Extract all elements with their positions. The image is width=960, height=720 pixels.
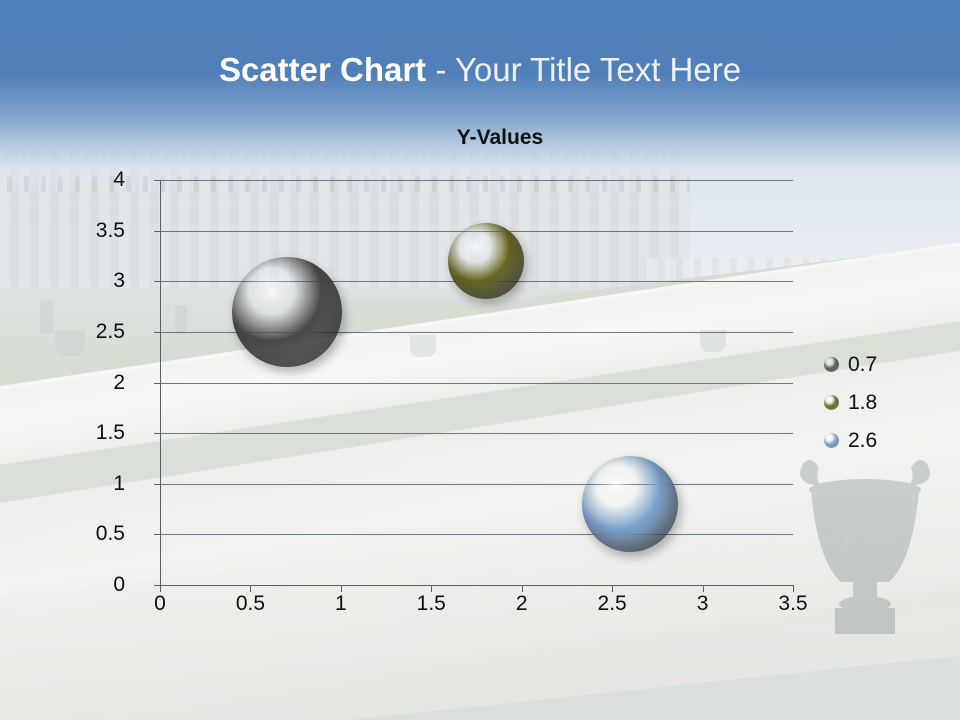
y-tick-label: 2 [65,371,125,395]
x-tick-mark [703,585,704,592]
x-tick-label: 2 [487,592,557,616]
y-tick-label: 2.5 [65,320,125,344]
x-tick-label: 0 [125,592,195,616]
y-tick-mark [154,332,160,333]
gridline [160,383,793,384]
slide-canvas: Scatter Chart - Your Title Text Here Y-V… [0,0,960,720]
x-tick-mark [250,585,251,592]
legend-item-label: 0.7 [848,348,877,382]
x-tick-mark [522,585,523,592]
legend-marker-icon [824,357,839,372]
legend-item[interactable]: 2.6 [824,424,954,462]
x-tick-mark [793,585,794,592]
legend-item[interactable]: 0.7 [824,348,954,386]
slide-title-rest: - Your Title Text Here [426,51,741,88]
x-tick-label: 1.5 [396,592,466,616]
slide-title-bold: Scatter Chart [219,51,426,88]
x-tick-label: 1 [306,592,376,616]
x-axis-line [160,585,793,586]
x-tick-mark [341,585,342,592]
y-tick-label: 4 [65,168,125,192]
x-tick-mark [431,585,432,592]
plot-area: 00.511.522.533.54 00.511.522.533.5 [160,180,793,585]
gridline [160,534,793,535]
y-tick-mark [154,484,160,485]
header-gradient-band [0,0,960,185]
y-tick-label: 0 [65,573,125,597]
data-point-bubble[interactable] [232,257,342,367]
legend-marker-icon [824,395,839,410]
gridline [160,484,793,485]
legend-item[interactable]: 1.8 [824,386,954,424]
chart-title: Y-Values [0,126,960,150]
y-tick-mark [154,231,160,232]
y-tick-label: 3.5 [65,219,125,243]
legend-marker-icon [824,433,839,448]
y-tick-label: 1 [65,472,125,496]
y-axis-line [160,180,161,586]
x-tick-label: 3 [668,592,738,616]
data-point-bubble[interactable] [582,456,678,552]
x-tick-label: 3.5 [758,592,828,616]
x-tick-mark [612,585,613,592]
y-tick-mark [154,433,160,434]
y-tick-label: 1.5 [65,421,125,445]
x-tick-mark [160,585,161,592]
legend-item-label: 1.8 [848,386,877,420]
y-tick-mark [154,383,160,384]
x-tick-label: 0.5 [215,592,285,616]
y-tick-mark [154,281,160,282]
x-tick-label: 2.5 [577,592,647,616]
gridline [160,180,793,181]
y-tick-mark [154,180,160,181]
chart-legend: 0.71.82.6 [824,348,954,462]
legend-item-label: 2.6 [848,424,877,458]
y-tick-label: 3 [65,269,125,293]
y-tick-mark [154,534,160,535]
slide-title: Scatter Chart - Your Title Text Here [0,52,960,88]
data-point-bubble[interactable] [448,223,524,299]
gridline [160,433,793,434]
y-tick-label: 0.5 [65,522,125,546]
